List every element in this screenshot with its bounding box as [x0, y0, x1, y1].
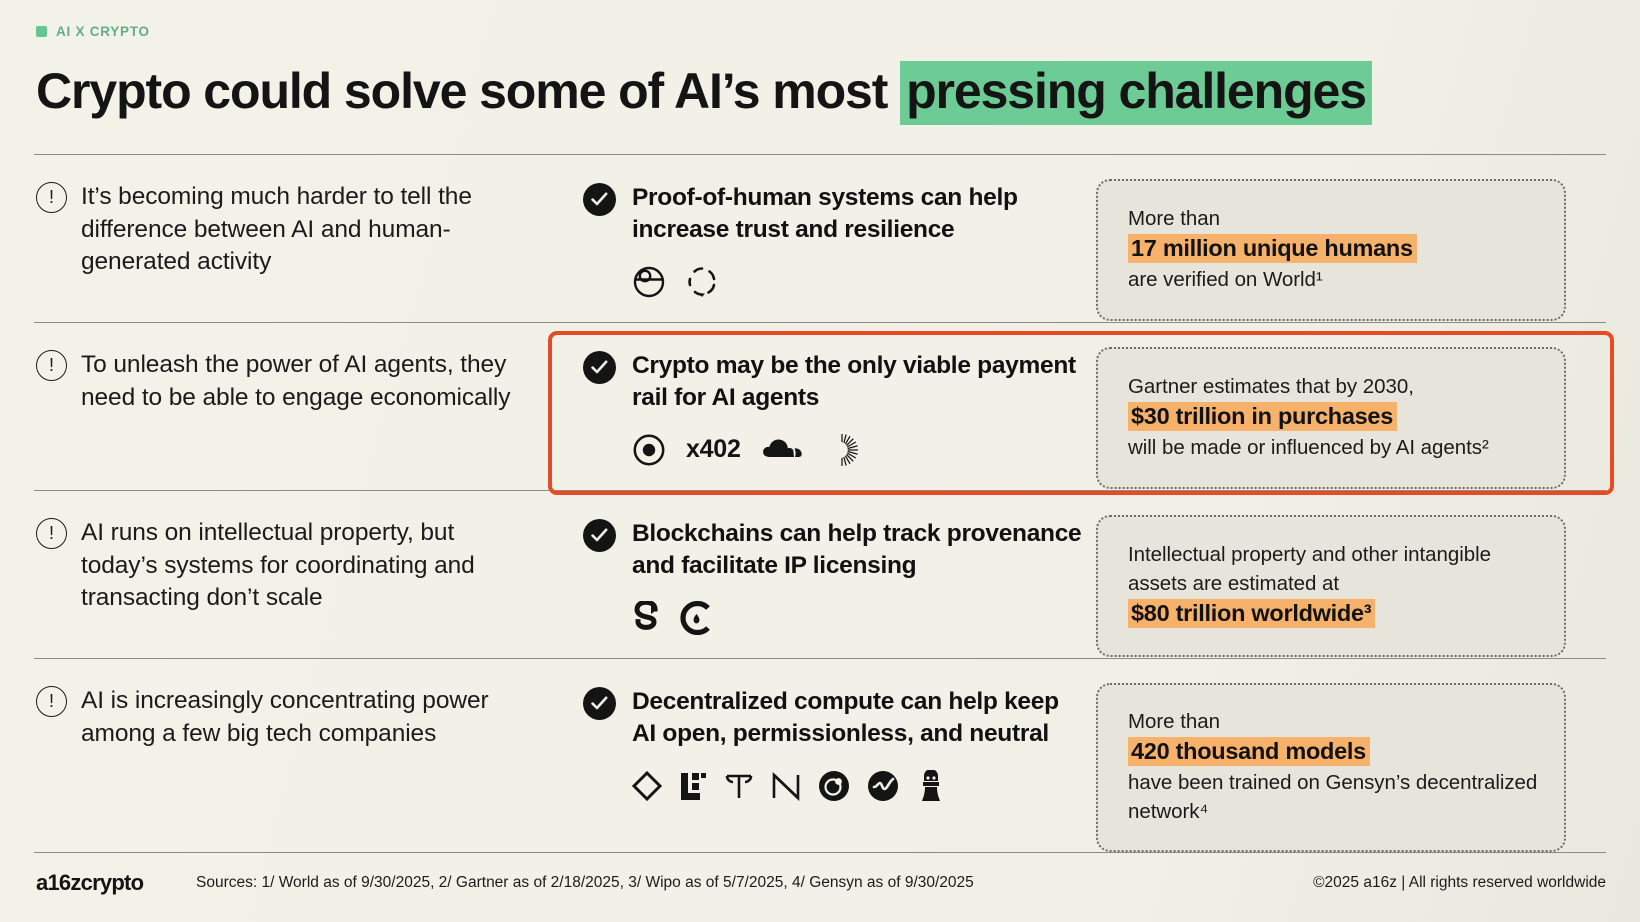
- check-circle-icon: [583, 183, 616, 216]
- camp-network-icon: [680, 601, 712, 635]
- solution-text: Blockchains can help track provenance an…: [632, 518, 1084, 582]
- stat-post: are verified on World¹: [1128, 265, 1538, 294]
- problem-text: To unleash the power of AI agents, they …: [81, 349, 531, 414]
- eyebrow: AI X CRYPTO: [34, 0, 1606, 39]
- solution-cell: Blockchains can help track provenance an…: [557, 513, 1090, 638]
- problem-text: AI runs on intellectual property, but to…: [81, 517, 531, 615]
- table-row: AI runs on intellectual property, but to…: [34, 490, 1606, 658]
- humanity-protocol-icon: [686, 265, 718, 298]
- stat-card: More than 17 million unique humans are v…: [1096, 179, 1566, 321]
- n-icon: [771, 771, 801, 801]
- stat-post: have been trained on Gensyn’s decentrali…: [1128, 768, 1538, 826]
- stat-highlight: 420 thousand models: [1128, 736, 1538, 767]
- brand-logo: a16zcrypto: [36, 870, 196, 896]
- stat-card: Intellectual property and other intangib…: [1096, 515, 1566, 657]
- story-protocol-icon: [632, 601, 660, 635]
- orbit-icon: [818, 770, 850, 802]
- partner-logo-strip: x402: [632, 430, 1084, 470]
- table-row: AI is increasingly concentrating power a…: [34, 658, 1606, 853]
- headline-highlight: pressing challenges: [900, 61, 1372, 125]
- solution-body: Proof-of-human systems can help increase…: [632, 181, 1084, 302]
- stat-pre: Intellectual property and other intangib…: [1128, 540, 1538, 598]
- solution-body: Crypto may be the only viable payment ra…: [632, 349, 1084, 470]
- stat-pre: Gartner estimates that by 2030,: [1128, 372, 1538, 401]
- solution-cell: Proof-of-human systems can help increase…: [557, 177, 1090, 302]
- cloudflare-icon: [761, 436, 805, 464]
- alert-icon: [36, 182, 67, 213]
- problem-cell: AI is increasingly concentrating power a…: [34, 681, 557, 750]
- stat-highlight: $30 trillion in purchases: [1128, 401, 1538, 432]
- problem-cell: It’s becoming much harder to tell the di…: [34, 177, 557, 279]
- insight-rows: It’s becoming much harder to tell the di…: [34, 154, 1606, 853]
- partner-logo-strip: [632, 598, 1084, 638]
- alert-icon: [36, 518, 67, 549]
- check-circle-icon: [583, 687, 616, 720]
- solution-cell: Decentralized compute can help keep AI o…: [557, 681, 1090, 806]
- alert-icon: [36, 686, 67, 717]
- stat-pre: More than: [1128, 204, 1538, 233]
- stat-card: More than 420 thousand models have been …: [1096, 683, 1566, 852]
- stat-cell: More than 17 million unique humans are v…: [1090, 177, 1606, 321]
- stat-post: will be made or influenced by AI agents²: [1128, 433, 1538, 462]
- solution-text: Decentralized compute can help keep AI o…: [632, 686, 1084, 750]
- infographic-page: AI X CRYPTO Crypto could solve some of A…: [0, 0, 1640, 922]
- stat-cell: Intellectual property and other intangib…: [1090, 513, 1606, 657]
- stat-card: Gartner estimates that by 2030, $30 tril…: [1096, 347, 1566, 489]
- table-row: It’s becoming much harder to tell the di…: [34, 154, 1606, 322]
- sources-note: Sources: 1/ World as of 9/30/2025, 2/ Ga…: [196, 874, 1313, 892]
- stat-cell: More than 420 thousand models have been …: [1090, 681, 1606, 852]
- copyright-note: ©2025 a16z | All rights reserved worldwi…: [1313, 874, 1606, 892]
- solution-text: Crypto may be the only viable payment ra…: [632, 350, 1084, 414]
- page-title: Crypto could solve some of AI’s most pre…: [34, 65, 1606, 118]
- eyebrow-swatch-icon: [36, 26, 47, 37]
- solution-cell: Crypto may be the only viable payment ra…: [557, 345, 1090, 470]
- gensyn-icon: [916, 770, 946, 802]
- world-icon: [632, 265, 666, 299]
- problem-text: It’s becoming much harder to tell the di…: [81, 181, 531, 279]
- headline-plain: Crypto could solve some of AI’s most: [36, 63, 900, 119]
- check-swoosh-icon: [867, 770, 899, 802]
- partner-logo-strip: [632, 766, 1084, 806]
- skyfire-icon: [825, 433, 859, 467]
- solution-text: Proof-of-human systems can help increase…: [632, 182, 1084, 246]
- alert-icon: [36, 350, 67, 381]
- problem-cell: AI runs on intellectual property, but to…: [34, 513, 557, 615]
- x402-wordmark: x402: [686, 435, 741, 464]
- solution-body: Blockchains can help track provenance an…: [632, 517, 1084, 638]
- problem-text: AI is increasingly concentrating power a…: [81, 685, 531, 750]
- stat-highlight: 17 million unique humans: [1128, 233, 1538, 264]
- blocks-icon: [679, 771, 707, 801]
- coinbase-icon: [632, 433, 666, 467]
- stat-pre: More than: [1128, 707, 1538, 736]
- eyebrow-label: AI X CRYPTO: [56, 24, 150, 39]
- check-circle-icon: [583, 519, 616, 552]
- stat-highlight: $80 trillion worldwide³: [1128, 598, 1538, 629]
- stat-cell: Gartner estimates that by 2030, $30 tril…: [1090, 345, 1606, 489]
- t-icon: [724, 771, 754, 801]
- footer: a16zcrypto Sources: 1/ World as of 9/30/…: [34, 870, 1606, 896]
- table-row: To unleash the power of AI agents, they …: [34, 322, 1606, 490]
- diamond-icon: [632, 771, 662, 801]
- partner-logo-strip: [632, 262, 1084, 302]
- check-circle-icon: [583, 351, 616, 384]
- solution-body: Decentralized compute can help keep AI o…: [632, 685, 1084, 806]
- problem-cell: To unleash the power of AI agents, they …: [34, 345, 557, 414]
